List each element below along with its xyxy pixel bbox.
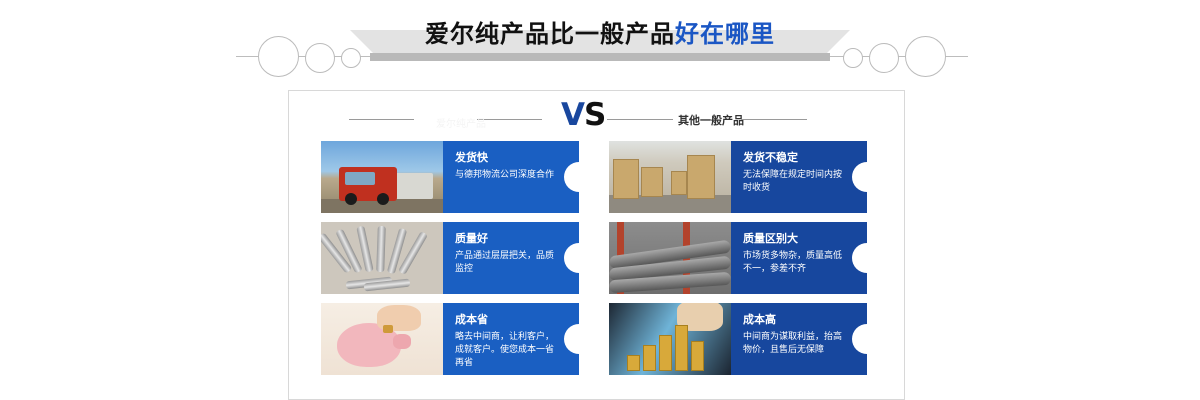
- drawback-card-1[interactable]: 发货不稳定 无法保障在规定时间内按时收货: [609, 141, 867, 213]
- versus-header-row: 爱尔纯产品 VS 其他一般产品: [289, 91, 906, 143]
- advantage-card-3-desc: 略去中间商，让利客户，成就客户。使您成本一省再省: [455, 331, 557, 370]
- page-root: 爱尔纯产品比一般产品好在哪里 爱尔纯产品 VS 其他一般产品 发货快 与德邦: [0, 0, 1200, 400]
- piggy-bank-image: [321, 303, 443, 375]
- drawback-card-2-desc: 市场货多物杂，质量高低不一，参差不齐: [743, 250, 845, 276]
- notch-shape: [564, 243, 579, 273]
- advantage-card-3-text: 成本省 略去中间商，让利客户，成就客户。使您成本一省再省: [443, 303, 579, 375]
- page-title-main: 爱尔纯产品比一般产品: [425, 20, 675, 48]
- truck-image: [321, 141, 443, 213]
- advantage-card-3[interactable]: 成本省 略去中间商，让利客户，成就客户。使您成本一省再省: [321, 303, 579, 375]
- gold-coins-image: [609, 303, 731, 375]
- notch-shape: [564, 162, 579, 192]
- advantage-card-1-desc: 与德邦物流公司深度合作: [455, 169, 557, 182]
- page-title-highlight: 好在哪里: [675, 20, 775, 48]
- advantage-card-3-title: 成本省: [455, 313, 557, 327]
- notch-shape: [852, 324, 867, 354]
- drawback-card-1-desc: 无法保障在规定时间内按时收货: [743, 169, 845, 195]
- drawback-card-2[interactable]: 质量区别大 市场货多物杂，质量高低不一，参差不齐: [609, 222, 867, 294]
- drawback-card-2-title: 质量区别大: [743, 232, 845, 246]
- advantages-column: 发货快 与德邦物流公司深度合作 质量好: [321, 141, 579, 384]
- large-pipes-image: [609, 222, 731, 294]
- page-title: 爱尔纯产品比一般产品好在哪里: [0, 14, 1200, 49]
- drawbacks-column: 发货不稳定 无法保障在规定时间内按时收货 质量区别大 市场货多物杂，质量高低不一…: [609, 141, 867, 384]
- versus-label: VS: [561, 97, 605, 133]
- notch-shape: [852, 243, 867, 273]
- right-column-label: 其他一般产品: [678, 112, 744, 128]
- warehouse-image: [609, 141, 731, 213]
- drawback-card-3-title: 成本高: [743, 313, 845, 327]
- drawback-card-3-text: 成本高 中间商为谋取利益，抬高物价，且售后无保障: [731, 303, 867, 375]
- notch-shape: [564, 324, 579, 354]
- title-plate-base: [370, 53, 830, 61]
- left-column-label: 爱尔纯产品: [401, 115, 521, 130]
- decorative-circle-right-small: [843, 48, 863, 68]
- steel-parts-image: [321, 222, 443, 294]
- divider-right-inner: [607, 119, 673, 120]
- divider-right-outer: [741, 119, 807, 120]
- drawback-card-3[interactable]: 成本高 中间商为谋取利益，抬高物价，且售后无保障: [609, 303, 867, 375]
- advantage-card-2[interactable]: 质量好 产品通过层层把关，品质监控: [321, 222, 579, 294]
- advantage-card-2-title: 质量好: [455, 232, 557, 246]
- drawback-card-1-text: 发货不稳定 无法保障在规定时间内按时收货: [731, 141, 867, 213]
- drawback-card-2-text: 质量区别大 市场货多物杂，质量高低不一，参差不齐: [731, 222, 867, 294]
- versus-s: S: [584, 97, 605, 133]
- advantage-card-2-desc: 产品通过层层把关，品质监控: [455, 250, 557, 276]
- page-header: 爱尔纯产品比一般产品好在哪里: [0, 0, 1200, 82]
- advantage-card-1-title: 发货快: [455, 151, 557, 165]
- drawback-card-3-desc: 中间商为谋取利益，抬高物价，且售后无保障: [743, 331, 845, 357]
- versus-v: V: [561, 97, 584, 133]
- advantage-card-2-text: 质量好 产品通过层层把关，品质监控: [443, 222, 579, 294]
- drawback-card-1-title: 发货不稳定: [743, 151, 845, 165]
- advantage-card-1[interactable]: 发货快 与德邦物流公司深度合作: [321, 141, 579, 213]
- decorative-circle-left-small: [341, 48, 361, 68]
- notch-shape: [852, 162, 867, 192]
- advantage-card-1-text: 发货快 与德邦物流公司深度合作: [443, 141, 579, 213]
- comparison-panel: 爱尔纯产品 VS 其他一般产品 发货快 与德邦物流公司深度合作: [288, 90, 905, 400]
